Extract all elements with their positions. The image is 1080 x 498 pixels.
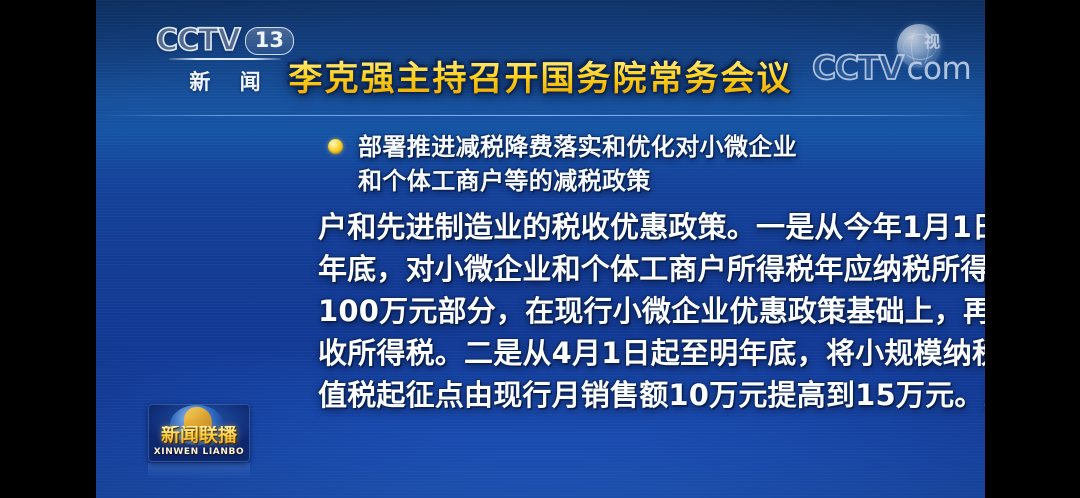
- channel-number-badge: 13: [245, 27, 294, 55]
- subtitle-text: 部署推进减税降费落实和优化对小微企业 和个体工商户等的减税政策: [358, 130, 797, 198]
- page-title: 李克强主持召开国务院常务会议: [96, 60, 985, 99]
- letterbox-bar-left: [0, 0, 96, 498]
- cctv-wordmark: CCTV: [156, 26, 240, 56]
- broadcast-frame: CCTV 13 新 闻 视 CCTV com 李克强主持召开国务院常务会议 部署…: [96, 0, 985, 498]
- bullet-dot-icon: [328, 139, 343, 154]
- watermark-cn-glyph: 视: [924, 28, 940, 52]
- subtitle-line: 部署推进减税降费落实和优化对小微企业: [358, 130, 797, 164]
- subtitle-block: 部署推进减税降费落实和优化对小微企业 和个体工商户等的减税政策: [328, 130, 968, 198]
- body-text-line: 值税起征点由现行月销售额10万元提高到15万元。三是从: [318, 374, 978, 416]
- header-divider: [96, 115, 985, 116]
- letterbox-bar-right: [985, 0, 1080, 498]
- body-text-line: 户和先进制造业的税收优惠政策。一是从今年1月1日起至明: [318, 206, 978, 248]
- channel-bug-row: CCTV 13: [155, 26, 295, 56]
- body-text-line: 100万元部分，在现行小微企业优惠政策基础上，再减半征: [318, 290, 978, 332]
- broadcast-screenshot: CCTV 13 新 闻 视 CCTV com 李克强主持召开国务院常务会议 部署…: [0, 0, 1080, 498]
- program-badge-reflection: [148, 463, 250, 479]
- program-name-en: XINWEN LIANBO: [148, 447, 250, 457]
- body-text-line: 收所得税。二是从4月1日起至明年底，将小规模纳税人增: [318, 332, 978, 374]
- body-text-line: 年底，对小微企业和个体工商户所得税年应纳税所得额不到: [318, 248, 978, 290]
- body-text: 户和先进制造业的税收优惠政策。一是从今年1月1日起至明 年底，对小微企业和个体工…: [318, 206, 978, 416]
- program-name-cn: 新闻联播: [148, 426, 250, 446]
- subtitle-line: 和个体工商户等的减税政策: [358, 164, 797, 198]
- program-badge: 新闻联播 XINWEN LIANBO: [148, 404, 250, 462]
